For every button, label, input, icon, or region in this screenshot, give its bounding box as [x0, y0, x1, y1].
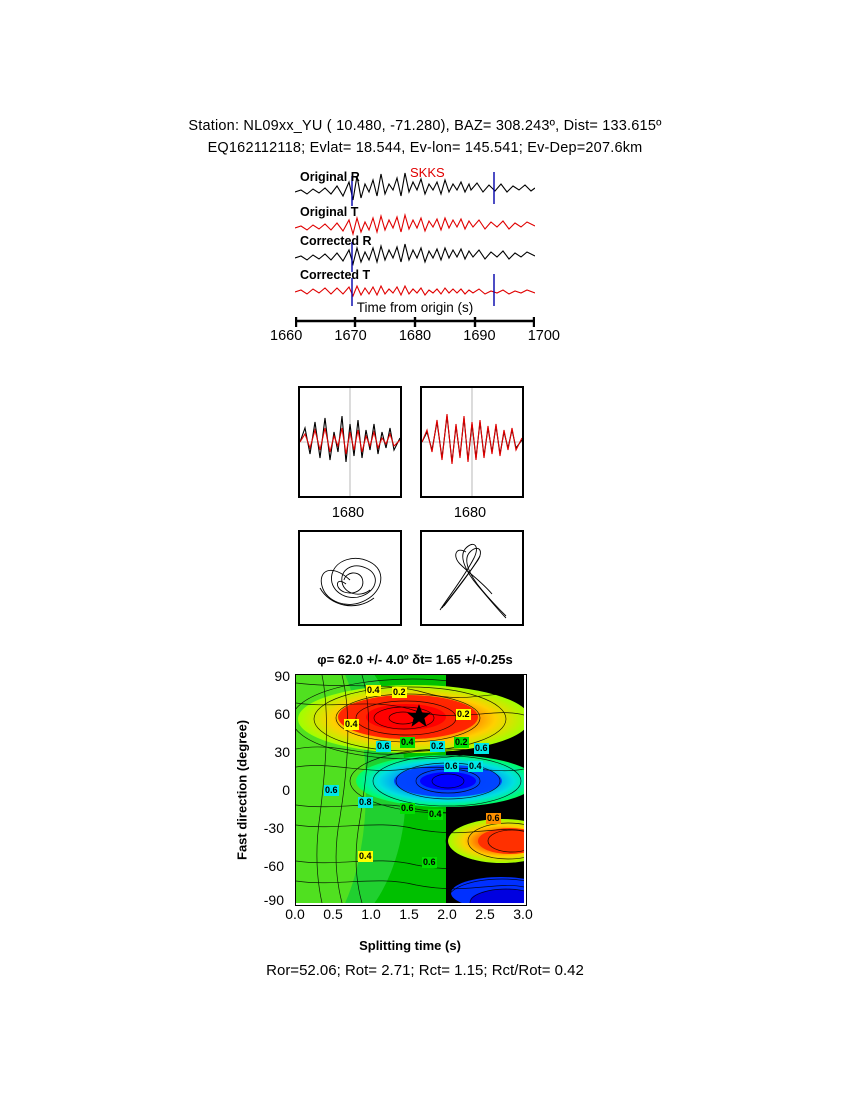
- contour-label-9: 0.6: [474, 743, 489, 754]
- contour-label-8: 0.2: [454, 737, 469, 748]
- contour-label-12: 0.6: [324, 785, 339, 796]
- contour-ylabel: Fast direction (degree): [232, 700, 252, 880]
- time-tick-0: 1660: [270, 328, 302, 344]
- contour-label-1: 0.4: [366, 685, 381, 696]
- contour-label-10: 0.6: [444, 761, 459, 772]
- particle-motion-box-right: [420, 530, 524, 626]
- contour-label-17: 0.4: [358, 851, 373, 862]
- contour-xtick-1: 0.5: [315, 906, 351, 922]
- contour-label-15: 0.4: [428, 809, 443, 820]
- particle-motion-box-left: [298, 530, 402, 626]
- contour-ytick-m30: -30: [244, 820, 284, 836]
- time-tick-3: 1690: [463, 328, 495, 344]
- contour-xtick-6: 3.0: [505, 906, 541, 922]
- time-tick-2: 1680: [399, 328, 431, 344]
- contour-label-2: 0.2: [392, 687, 407, 698]
- time-tick-1: 1670: [334, 328, 366, 344]
- contour-label-6: 0.6: [376, 741, 391, 752]
- contour-xtick-2: 1.0: [353, 906, 389, 922]
- wave-box-right-tick: 1680: [420, 505, 520, 521]
- contour-xlabel: Splitting time (s): [295, 938, 525, 953]
- contour-xtick-0: 0.0: [277, 906, 313, 922]
- time-axis-title: Time from origin (s): [295, 300, 535, 315]
- wave-box-left: [298, 386, 402, 498]
- contour-ytick-0: 0: [250, 782, 290, 798]
- contour-ytick-60: 60: [250, 706, 290, 722]
- trace-label-original-r: Original R: [300, 170, 360, 184]
- contour-label-5: 0.4: [400, 737, 415, 748]
- contour-plot: 0.4 0.2 0.2 0.4 0.4 0.6 0.2 0.2 0.6 0.6 …: [295, 674, 527, 906]
- contour-xtick-4: 2.0: [429, 906, 465, 922]
- contour-label-14: 0.6: [400, 803, 415, 814]
- contour-ytick-30: 30: [250, 744, 290, 760]
- time-axis: [295, 316, 535, 326]
- contour-ytick-90: 90: [250, 668, 290, 684]
- contour-label-13: 0.8: [358, 797, 373, 808]
- contour-ytick-m60: -60: [244, 858, 284, 874]
- wave-box-left-tick: 1680: [298, 505, 398, 521]
- contour-label-16: 0.6: [486, 813, 501, 824]
- contour-label-11: 0.4: [468, 761, 483, 772]
- figure-header: Station: NL09xx_YU ( 10.480, -71.280), B…: [0, 118, 850, 156]
- wave-box-right: [420, 386, 524, 498]
- contour-label-4: 0.4: [344, 719, 359, 730]
- contour-title: φ= 62.0 +/- 4.0º δt= 1.65 +/-0.25s: [295, 652, 535, 667]
- contour-label-3: 0.2: [456, 709, 471, 720]
- trace-label-corrected-r: Corrected R: [300, 234, 372, 248]
- contour-xtick-3: 1.5: [391, 906, 427, 922]
- time-tick-4: 1700: [528, 328, 560, 344]
- station-info-line: Station: NL09xx_YU ( 10.480, -71.280), B…: [0, 118, 850, 134]
- event-info-line: EQ162112118; Evlat= 18.544, Ev-lon= 145.…: [0, 140, 850, 156]
- results-footer: Ror=52.06; Rot= 2.71; Rct= 1.15; Rct/Rot…: [0, 962, 850, 979]
- contour-label-7: 0.2: [430, 741, 445, 752]
- figure-page: Station: NL09xx_YU ( 10.480, -71.280), B…: [0, 0, 850, 1100]
- contour-xtick-5: 2.5: [467, 906, 503, 922]
- contour-label-18: 0.6: [422, 857, 437, 868]
- trace-label-original-t: Original T: [300, 205, 358, 219]
- time-axis-ticklabels: 1660 1670 1680 1690 1700: [270, 328, 560, 344]
- trace-label-corrected-t: Corrected T: [300, 268, 370, 282]
